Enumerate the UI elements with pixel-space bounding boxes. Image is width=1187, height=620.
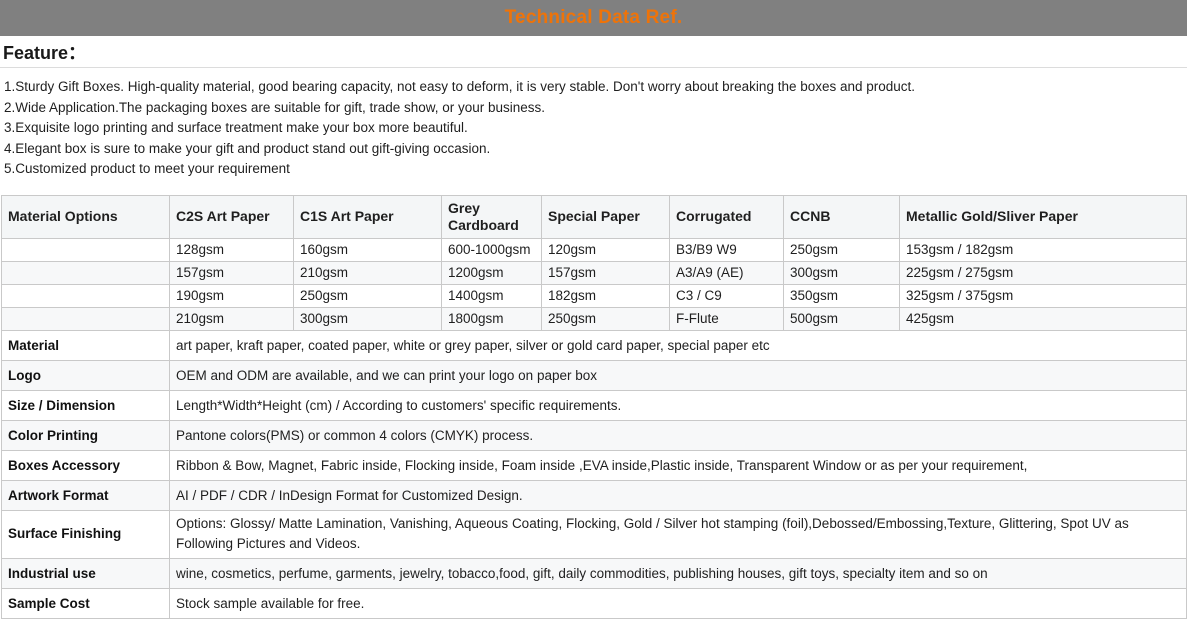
cell: 325gsm / 375gsm xyxy=(900,284,1187,307)
cell: C3 / C9 xyxy=(670,284,784,307)
row-label-color-printing: Color Printing xyxy=(2,420,170,450)
cell: 210gsm xyxy=(294,261,442,284)
column-header-c2s-art-paper: C2S Art Paper xyxy=(170,195,294,238)
table-row-surface-finishing: Surface Finishing Options: Glossy/ Matte… xyxy=(2,510,1187,558)
cell: 157gsm xyxy=(170,261,294,284)
feature-heading-row: Feature： xyxy=(0,36,1187,68)
row-value-size-dimension: Length*Width*Height (cm) / According to … xyxy=(170,390,1187,420)
table-row-color-printing: Color Printing Pantone colors(PMS) or co… xyxy=(2,420,1187,450)
table-row: 128gsm 160gsm 600-1000gsm 120gsm B3/B9 W… xyxy=(2,238,1187,261)
feature-heading: Feature： xyxy=(0,39,86,65)
table-row-sample-cost: Sample Cost Stock sample available for f… xyxy=(2,588,1187,618)
cell: A3/A9 (AE) xyxy=(670,261,784,284)
column-header-grey-cardboard: Grey Cardboard xyxy=(442,195,542,238)
table-row-size-dimension: Size / Dimension Length*Width*Height (cm… xyxy=(2,390,1187,420)
cell: 300gsm xyxy=(784,261,900,284)
feature-line: 1.Sturdy Gift Boxes. High-quality materi… xyxy=(4,77,1183,98)
cell: 225gsm / 275gsm xyxy=(900,261,1187,284)
row-label-size-dimension: Size / Dimension xyxy=(2,390,170,420)
column-header-corrugated: Corrugated xyxy=(670,195,784,238)
cell: 1400gsm xyxy=(442,284,542,307)
column-header-special-paper: Special Paper xyxy=(542,195,670,238)
feature-line: 5.Customized product to meet your requir… xyxy=(4,159,1183,180)
row-label-material: Material xyxy=(2,330,170,360)
table-row-logo: Logo OEM and ODM are available, and we c… xyxy=(2,360,1187,390)
technical-data-page: Technical Data Ref. Feature： 1.Sturdy Gi… xyxy=(0,0,1187,620)
row-label-logo: Logo xyxy=(2,360,170,390)
feature-line: 2.Wide Application.The packaging boxes a… xyxy=(4,98,1183,119)
specification-table: Material Options C2S Art Paper C1S Art P… xyxy=(1,195,1187,619)
title-bar: Technical Data Ref. xyxy=(0,0,1187,36)
feature-list: 1.Sturdy Gift Boxes. High-quality materi… xyxy=(0,68,1187,186)
cell: 600-1000gsm xyxy=(442,238,542,261)
row-value-sample-cost: Stock sample available for free. xyxy=(170,588,1187,618)
feature-line: 3.Exquisite logo printing and surface tr… xyxy=(4,118,1183,139)
table-row-industrial-use: Industrial use wine, cosmetics, perfume,… xyxy=(2,558,1187,588)
cell xyxy=(2,307,170,330)
row-label-surface-finishing: Surface Finishing xyxy=(2,510,170,558)
row-value-color-printing: Pantone colors(PMS) or common 4 colors (… xyxy=(170,420,1187,450)
row-label-industrial-use: Industrial use xyxy=(2,558,170,588)
cell: F-Flute xyxy=(670,307,784,330)
row-value-material: art paper, kraft paper, coated paper, wh… xyxy=(170,330,1187,360)
feature-line: 4.Elegant box is sure to make your gift … xyxy=(4,139,1183,160)
row-value-boxes-accessory: Ribbon & Bow, Magnet, Fabric inside, Flo… xyxy=(170,450,1187,480)
cell: 250gsm xyxy=(784,238,900,261)
row-label-boxes-accessory: Boxes Accessory xyxy=(2,450,170,480)
cell: 500gsm xyxy=(784,307,900,330)
column-header-metallic-paper: Metallic Gold/Sliver Paper xyxy=(900,195,1187,238)
row-value-industrial-use: wine, cosmetics, perfume, garments, jewe… xyxy=(170,558,1187,588)
cell: 250gsm xyxy=(542,307,670,330)
cell: 160gsm xyxy=(294,238,442,261)
cell: 210gsm xyxy=(170,307,294,330)
cell xyxy=(2,238,170,261)
table-row-material: Material art paper, kraft paper, coated … xyxy=(2,330,1187,360)
cell: 153gsm / 182gsm xyxy=(900,238,1187,261)
table-header-row: Material Options C2S Art Paper C1S Art P… xyxy=(2,195,1187,238)
cell xyxy=(2,261,170,284)
cell: 1200gsm xyxy=(442,261,542,284)
cell: 190gsm xyxy=(170,284,294,307)
cell: 250gsm xyxy=(294,284,442,307)
cell: 350gsm xyxy=(784,284,900,307)
table-row: 190gsm 250gsm 1400gsm 182gsm C3 / C9 350… xyxy=(2,284,1187,307)
cell: 157gsm xyxy=(542,261,670,284)
page-title: Technical Data Ref. xyxy=(505,0,683,36)
cell: B3/B9 W9 xyxy=(670,238,784,261)
cell: 425gsm xyxy=(900,307,1187,330)
cell xyxy=(2,284,170,307)
row-value-artwork-format: AI / PDF / CDR / InDesign Format for Cus… xyxy=(170,480,1187,510)
cell: 120gsm xyxy=(542,238,670,261)
table-row-artwork-format: Artwork Format AI / PDF / CDR / InDesign… xyxy=(2,480,1187,510)
row-label-artwork-format: Artwork Format xyxy=(2,480,170,510)
column-header-c1s-art-paper: C1S Art Paper xyxy=(294,195,442,238)
row-value-logo: OEM and ODM are available, and we can pr… xyxy=(170,360,1187,390)
table-row: 210gsm 300gsm 1800gsm 250gsm F-Flute 500… xyxy=(2,307,1187,330)
cell: 300gsm xyxy=(294,307,442,330)
row-value-surface-finishing: Options: Glossy/ Matte Lamination, Vanis… xyxy=(170,510,1187,558)
cell: 128gsm xyxy=(170,238,294,261)
table-row-boxes-accessory: Boxes Accessory Ribbon & Bow, Magnet, Fa… xyxy=(2,450,1187,480)
cell: 182gsm xyxy=(542,284,670,307)
table-row: 157gsm 210gsm 1200gsm 157gsm A3/A9 (AE) … xyxy=(2,261,1187,284)
row-label-sample-cost: Sample Cost xyxy=(2,588,170,618)
column-header-material-options: Material Options xyxy=(2,195,170,238)
cell: 1800gsm xyxy=(442,307,542,330)
column-header-ccnb: CCNB xyxy=(784,195,900,238)
